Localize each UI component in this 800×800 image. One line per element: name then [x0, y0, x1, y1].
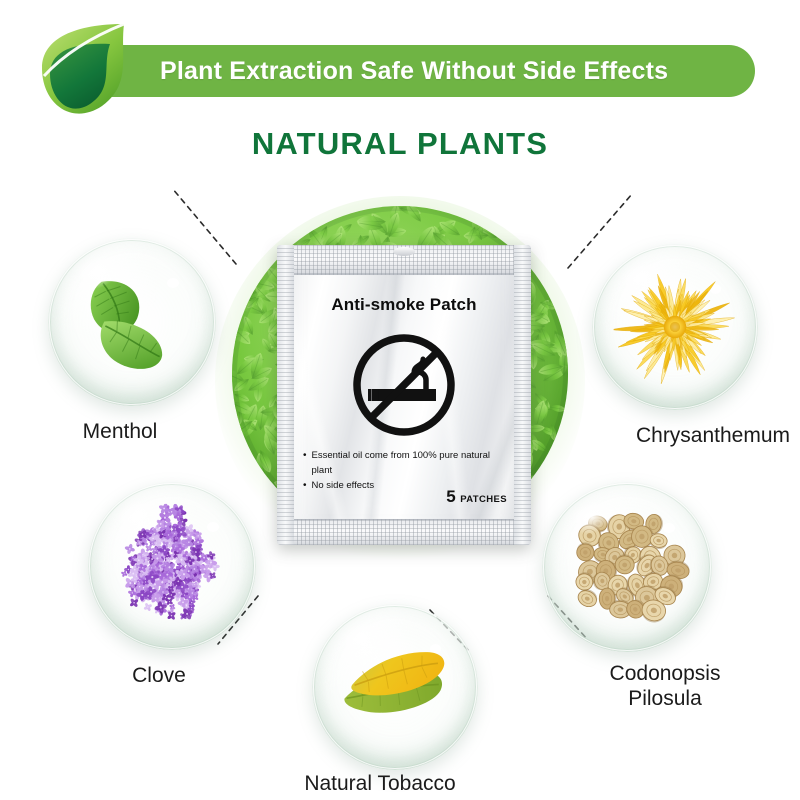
- ingredient-label-chrysanthemum: Chrysanthemum: [583, 424, 800, 449]
- ingredient-bubble: [88, 482, 256, 650]
- tobacco-leaf-icon: [334, 626, 457, 749]
- package-top-seal: [277, 245, 531, 275]
- ingredient-natural-tobacco: Natural Tobacco: [312, 604, 478, 770]
- package-tear-notch: [393, 247, 415, 256]
- package-feature-item: • Essential oil come from 100% pure natu…: [303, 449, 505, 478]
- product-package: Anti-smoke Patch • Essential oil come fr…: [277, 245, 531, 545]
- mint-leaf-icon: [70, 260, 194, 384]
- package-quantity: 5 PATCHES: [446, 487, 507, 507]
- ingredient-label-natural-tobacco: Natural Tobacco: [250, 772, 510, 797]
- chrysanthemum-icon: [614, 266, 737, 389]
- package-body: Anti-smoke Patch • Essential oil come fr…: [277, 245, 531, 545]
- bullet-marker: •: [303, 449, 307, 478]
- ingredient-menthol: Menthol: [48, 238, 216, 406]
- ingredient-label-codonopsis-pilosula: Codonopsis Pilosula: [535, 662, 795, 712]
- page-title: NATURAL PLANTS: [0, 126, 800, 162]
- ingredient-bubble: [592, 244, 758, 410]
- ingredient-label-menthol: Menthol: [0, 420, 250, 445]
- package-quantity-unit: PATCHES: [460, 494, 507, 505]
- package-left-seal: [277, 245, 294, 545]
- ingredient-codonopsis-pilosula: Codonopsis Pilosula: [542, 482, 712, 652]
- infographic-canvas: Anti-smoke Patch • Essential oil come fr…: [0, 0, 800, 800]
- ingredient-bubble: [312, 604, 478, 770]
- ingredient-chrysanthemum: Chrysanthemum: [592, 244, 758, 410]
- package-product-name: Anti-smoke Patch: [277, 295, 531, 315]
- header-banner: Plant Extraction Safe Without Side Effec…: [95, 45, 755, 97]
- no-smoking-icon: [348, 329, 460, 441]
- package-quantity-number: 5: [446, 487, 455, 506]
- package-right-seal: [514, 245, 531, 545]
- leaf-icon: [28, 22, 168, 120]
- ingredient-clove: Clove: [88, 482, 256, 650]
- root-slices-icon: [564, 504, 690, 630]
- ingredient-bubble: [542, 482, 712, 652]
- clove-flower-icon: [110, 504, 234, 628]
- bullet-marker: •: [303, 479, 307, 494]
- ingredient-bubble: [48, 238, 216, 406]
- header-title: Plant Extraction Safe Without Side Effec…: [95, 57, 668, 86]
- package-bottom-seal: [277, 519, 531, 545]
- package-feature-text: Essential oil come from 100% pure natura…: [312, 449, 505, 478]
- package-feature-text: No side effects: [312, 479, 375, 494]
- ingredient-label-clove: Clove: [29, 664, 289, 689]
